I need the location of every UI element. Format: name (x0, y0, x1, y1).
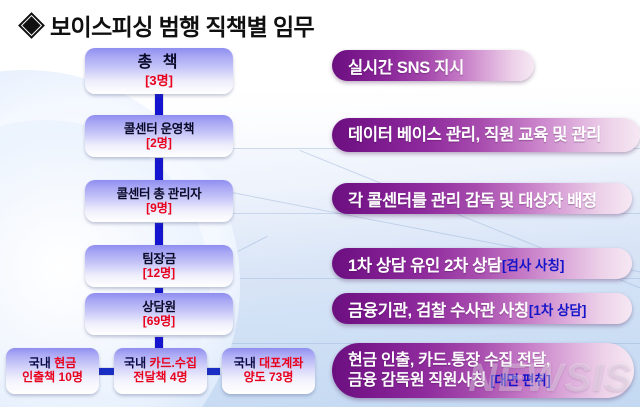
duty-pill-text: 데이터 베이스 관리, 직원 교육 및 관리 (348, 125, 624, 146)
org-box-level-4[interactable]: 팀장금 [12명] (85, 245, 233, 287)
org-box-role: 팀장금 (142, 252, 176, 266)
page-title: 보이스피싱 범행 직책별 임무 (50, 8, 314, 42)
duty-pill-tag: [1차 상담] (529, 299, 587, 319)
duty-pill-2[interactable]: 데이터 베이스 관리, 직원 교육 및 관리 (332, 118, 640, 152)
bottom-box-line-2: 인출책 10명 (22, 371, 83, 385)
bottom-box-keyword: 카드.수집 (149, 356, 197, 370)
org-box-role: 콜센터 총 관리자 (117, 187, 202, 201)
duty-pill-line-1: 현금 인출, 카드.통장 수집 전달, (348, 352, 550, 369)
bottom-box-burner-account[interactable]: 국내 대포계좌 양도 73명 (222, 348, 315, 394)
duty-pill-text: 각 콜센터를 관리 감독 및 대상자 배정 (348, 187, 597, 211)
connector-level2-level3 (155, 158, 163, 181)
org-box-level-1[interactable]: 총 책 [3명] (85, 48, 233, 94)
duty-pill-4[interactable]: 1차 상담 유인 2차 상담[검사 사칭] (332, 248, 632, 279)
duty-pill-3[interactable]: 각 콜센터를 관리 감독 및 대상자 배정 (332, 183, 632, 214)
duty-pill-tag: [검사 사칭] (502, 254, 564, 274)
bottom-box-line-1: 국내 현금 (29, 357, 77, 371)
bottom-box-cash-withdrawal[interactable]: 국내 현금 인출책 10명 (6, 348, 99, 394)
bottom-box-line-1: 국내 카드.수집 (124, 357, 197, 371)
duty-pill-5[interactable]: 금융기관, 검찰 수사관 사칭[1차 상담] (332, 293, 632, 324)
page-title-row: 보이스피싱 범행 직책별 임무 (22, 8, 314, 42)
bottom-box-card-collection[interactable]: 국내 카드.수집 전달책 4명 (114, 348, 207, 394)
bottom-box-keyword: 대포계좌 (259, 356, 303, 370)
bottom-box-prefix: 국내 (29, 356, 54, 370)
org-box-count: [3명] (145, 74, 173, 89)
connector-level3-level4 (155, 223, 163, 246)
bottom-box-prefix: 국내 (124, 356, 149, 370)
bottom-box-line-1: 국내 대포계좌 (234, 357, 304, 371)
org-box-count: [12명] (143, 267, 175, 280)
bottom-box-line-2: 양도 73명 (244, 371, 294, 385)
org-box-count: [69명] (143, 315, 175, 328)
infographic-canvas: 보이스피싱 범행 직책별 임무 총 책 [3명] 콜센터 운영책 [2명] 콜센… (0, 0, 640, 407)
org-box-count: [2명] (146, 137, 172, 150)
connector-bottom-1-2 (98, 368, 115, 375)
bottom-box-line-2: 전달책 4명 (133, 371, 187, 385)
org-box-role: 콜센터 운영책 (124, 122, 194, 136)
org-box-level-3[interactable]: 콜센터 총 관리자 [9명] (85, 180, 233, 222)
duty-pill-line-2: 금융 감독원 직원사칭 (348, 372, 490, 389)
duty-pill-6[interactable]: 현금 인출, 카드.통장 수집 전달, 금융 감독원 직원사칭 [대면 편취] (332, 343, 634, 398)
duty-pill-text: 현금 인출, 카드.통장 수집 전달, 금융 감독원 직원사칭 [대면 편취] (348, 351, 551, 390)
bottom-box-keyword: 현금 (54, 356, 76, 370)
duty-pill-text: 실시간 SNS 지시 (348, 54, 464, 78)
org-box-level-2[interactable]: 콜센터 운영책 [2명] (85, 115, 233, 157)
org-box-role: 총 책 (138, 54, 181, 72)
org-box-count: [9명] (146, 202, 172, 215)
connector-level1-level2 (155, 93, 163, 116)
org-box-role: 상담원 (142, 300, 176, 314)
duty-pill-text: 금융기관, 검찰 수사관 사칭 (348, 297, 529, 321)
duty-pill-tag: [대면 편취] (490, 373, 550, 388)
org-box-level-5[interactable]: 상담원 [69명] (85, 293, 233, 335)
duty-pill-1[interactable]: 실시간 SNS 지시 (332, 50, 534, 81)
bottom-box-prefix: 국내 (234, 356, 259, 370)
duty-pill-text: 1차 상담 유인 2차 상담 (348, 252, 502, 276)
diamond-bullet-icon (18, 12, 45, 39)
